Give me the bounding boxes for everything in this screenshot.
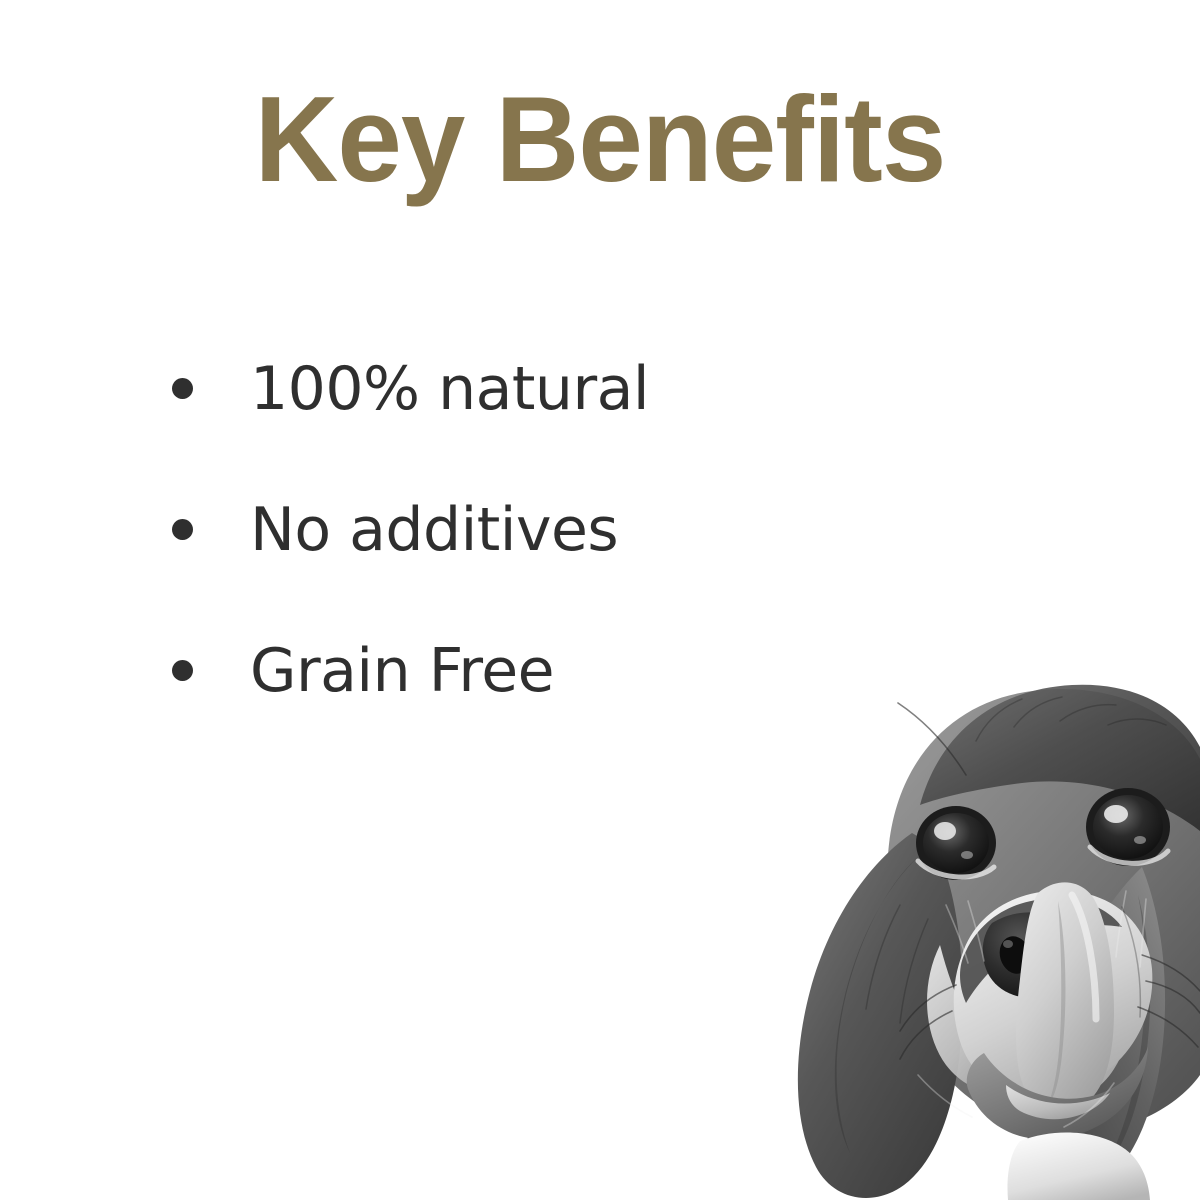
benefit-label: 100% natural (250, 359, 649, 419)
bullet-icon (172, 519, 193, 540)
list-item: No additives (172, 459, 792, 600)
bullet-icon (172, 660, 193, 681)
list-item: 100% natural (172, 318, 792, 459)
benefit-label: Grain Free (250, 641, 554, 701)
dog-photo (770, 655, 1200, 1200)
list-item: Grain Free (172, 600, 792, 741)
page-title: Key Benefits (30, 78, 1170, 200)
key-benefits-graphic: Key Benefits 100% natural No additives G… (0, 0, 1200, 1200)
benefit-label: No additives (250, 500, 618, 560)
bullet-icon (172, 378, 193, 399)
benefits-list: 100% natural No additives Grain Free (172, 318, 792, 741)
